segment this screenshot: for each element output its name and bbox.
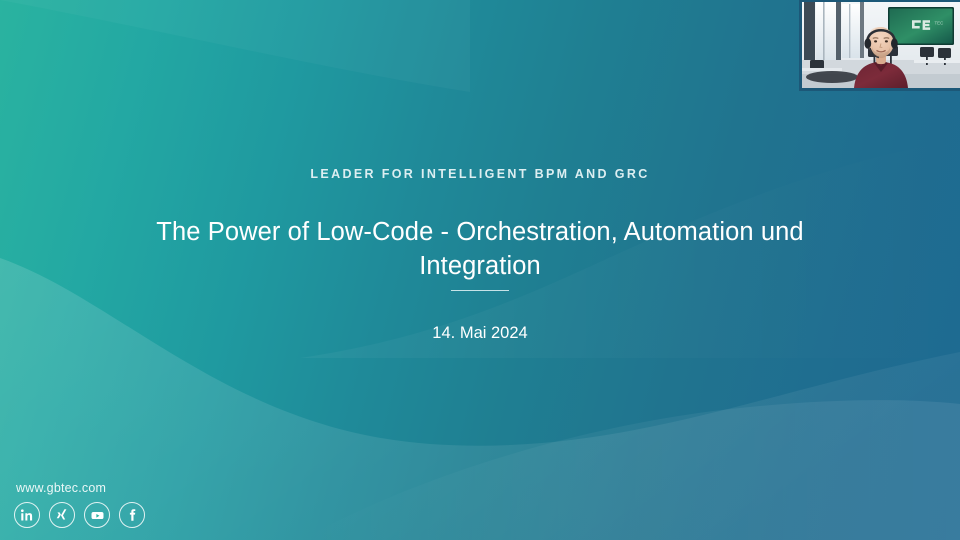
facebook-icon[interactable]: [119, 502, 145, 528]
linkedin-glyph: [20, 508, 34, 522]
youtube-icon[interactable]: [84, 502, 110, 528]
slide-footer: www.gbtec.com: [14, 481, 145, 528]
presentation-slide: Leader for Intelligent BPM and GRC The P…: [0, 0, 960, 540]
website-url: www.gbtec.com: [14, 481, 145, 495]
youtube-glyph: [90, 508, 105, 523]
title-divider: [451, 290, 509, 291]
slide-eyebrow: Leader for Intelligent BPM and GRC: [0, 167, 960, 181]
xing-icon[interactable]: [49, 502, 75, 528]
page-title: The Power of Low-Code - Orchestration, A…: [150, 215, 810, 283]
linkedin-icon[interactable]: [14, 502, 40, 528]
presenter-video-frame: TEC: [802, 2, 960, 88]
slide-date: 14. Mai 2024: [0, 324, 960, 343]
webcam-video: TEC: [802, 2, 960, 88]
svg-text:TEC: TEC: [935, 21, 944, 26]
xing-glyph: [55, 508, 69, 522]
webcam-overlay[interactable]: TEC: [799, 0, 960, 91]
facebook-glyph: [125, 508, 139, 522]
social-links: [14, 502, 145, 528]
